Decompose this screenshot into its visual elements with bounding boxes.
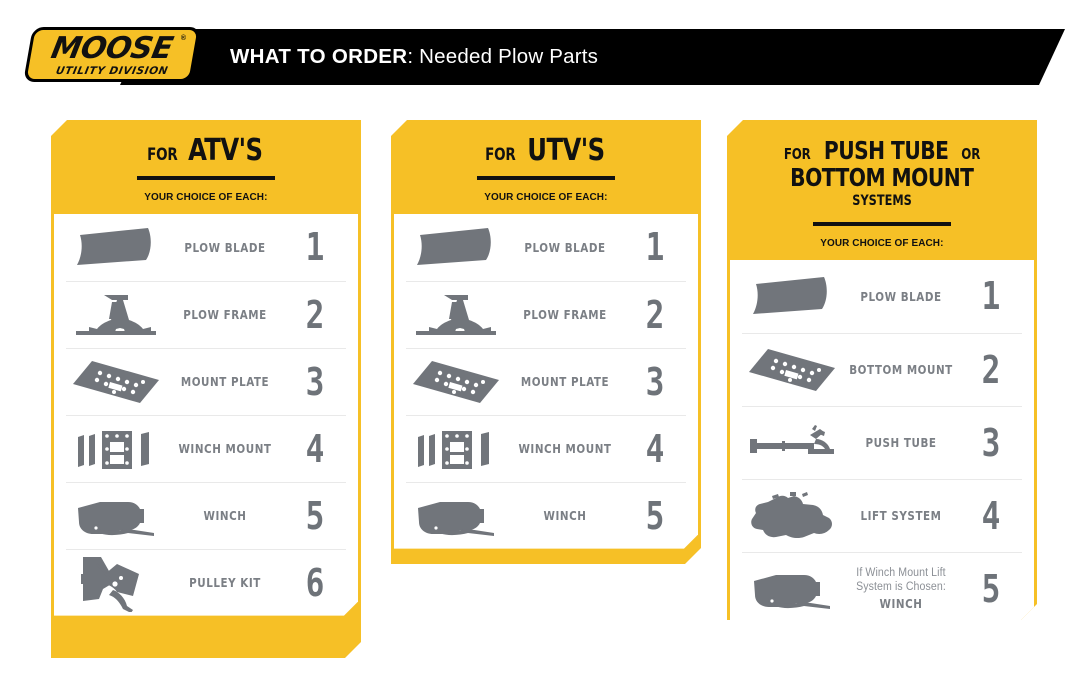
card-systems-title: SYSTEMS [852, 194, 911, 209]
table-row[interactable]: PLOW FRAME 2 [406, 281, 686, 348]
table-row[interactable]: WINCH MOUNT 4 [406, 415, 686, 482]
card-atvs: FOR ATV'S YOUR CHOICE OF EACH: PLOW BLAD… [51, 120, 361, 658]
row-label: PLOW BLADE [171, 240, 280, 255]
row-label: MOUNT PLATE [171, 374, 280, 389]
mount-plate-icon [66, 358, 166, 406]
card-utvs-divider [477, 176, 615, 180]
card-push-tube-header: FOR PUSH TUBE OR BOTTOM MOUNT SYSTEMS YO… [730, 123, 1034, 260]
table-row[interactable]: PLOW FRAME 2 [66, 281, 346, 348]
row-number: 1 [966, 277, 1017, 315]
row-number: 5 [630, 497, 681, 535]
row-label: PLOW FRAME [171, 307, 280, 322]
row-label: PUSH TUBE [847, 435, 956, 450]
row-label: WINCH [847, 596, 956, 611]
cards-container: FOR ATV'S YOUR CHOICE OF EACH: PLOW BLAD… [0, 0, 1080, 691]
row-number: 3 [966, 424, 1017, 462]
card-utvs-pre: FOR [486, 147, 516, 164]
row-number: 2 [630, 296, 681, 334]
row-label-note: If Winch Mount Lift System is Chosen: [847, 566, 956, 594]
row-label: WINCH MOUNT [511, 441, 620, 456]
card-utvs: FOR UTV'S YOUR CHOICE OF EACH: PLOW BLAD… [391, 120, 701, 564]
plow-blade-icon [406, 226, 506, 268]
push-tube-icon [742, 423, 842, 463]
row-label-group: If Winch Mount Lift System is Chosen: WI… [847, 566, 956, 611]
plow-frame-icon [66, 292, 166, 338]
plow-blade-icon [66, 226, 166, 268]
row-label: PLOW BLADE [511, 240, 620, 255]
row-number: 3 [290, 363, 341, 401]
table-row[interactable]: PUSH TUBE 3 [742, 406, 1022, 479]
table-row[interactable]: LIFT SYSTEM 4 [742, 479, 1022, 552]
plow-blade-icon [742, 275, 842, 317]
pulley-kit-icon [66, 554, 166, 612]
table-row[interactable]: WINCH 5 [66, 482, 346, 549]
table-row[interactable]: PLOW BLADE 1 [742, 260, 1022, 333]
row-number: 6 [290, 564, 341, 602]
winch-mount-icon [406, 425, 506, 473]
row-label: MOUNT PLATE [511, 374, 620, 389]
row-label: LIFT SYSTEM [847, 508, 956, 523]
row-number: 2 [290, 296, 341, 334]
bottom-mount-icon [742, 346, 842, 394]
table-row[interactable]: BOTTOM MOUNT 2 [742, 333, 1022, 406]
row-label: WINCH MOUNT [171, 441, 280, 456]
row-label: PULLEY KIT [171, 575, 280, 590]
card-atvs-subtitle: YOUR CHOICE OF EACH: [144, 191, 267, 203]
winch-icon [406, 494, 506, 538]
card-push-tube-subtitle: YOUR CHOICE OF EACH: [820, 237, 943, 249]
row-number: 1 [630, 228, 681, 266]
table-row[interactable]: MOUNT PLATE 3 [66, 348, 346, 415]
row-label: PLOW BLADE [847, 289, 956, 304]
card-bottom-mount-title: BOTTOM MOUNT [790, 165, 973, 191]
card-atvs-title: ATV'S [188, 136, 262, 167]
table-row[interactable]: WINCH MOUNT 4 [66, 415, 346, 482]
row-number: 4 [290, 430, 341, 468]
card-push-tube-body: PLOW BLADE 1 BOTTOM MOUNT 2 PUSH TUBE 3 [730, 260, 1034, 625]
row-label: WINCH [171, 508, 280, 523]
row-number: 5 [966, 570, 1017, 608]
table-row[interactable]: MOUNT PLATE 3 [406, 348, 686, 415]
row-number: 4 [630, 430, 681, 468]
plow-frame-icon [406, 292, 506, 338]
infographic-page: WHAT TO ORDER: Needed Plow Parts MOOSE U… [0, 0, 1080, 691]
card-push-tube-bottom-mount: FOR PUSH TUBE OR BOTTOM MOUNT SYSTEMS YO… [727, 120, 1037, 620]
row-number: 2 [966, 351, 1017, 389]
table-row[interactable]: WINCH 5 [406, 482, 686, 549]
table-row[interactable]: PLOW BLADE 1 [406, 214, 686, 281]
card-atvs-pre: FOR [147, 147, 177, 164]
row-number: 1 [290, 228, 341, 266]
card-utvs-title: UTV'S [527, 136, 604, 167]
card-push-tube-post: OR [961, 147, 980, 162]
winch-icon [66, 494, 166, 538]
row-label: PLOW FRAME [511, 307, 620, 322]
card-atvs-body: PLOW BLADE 1 PLOW FRAME 2 MOUNT PLATE 3 [54, 214, 358, 616]
table-row[interactable]: PLOW BLADE 1 [66, 214, 346, 281]
row-number: 3 [630, 363, 681, 401]
winch-icon [742, 567, 842, 611]
card-atvs-header: FOR ATV'S YOUR CHOICE OF EACH: [54, 123, 358, 214]
row-label: WINCH [511, 508, 620, 523]
card-utvs-subtitle: YOUR CHOICE OF EACH: [484, 191, 607, 203]
card-push-tube-title: PUSH TUBE [824, 138, 948, 164]
card-push-tube-pre: FOR [784, 147, 811, 162]
table-row[interactable]: PULLEY KIT 6 [66, 549, 346, 616]
card-utvs-body: PLOW BLADE 1 PLOW FRAME 2 MOUNT PLATE 3 [394, 214, 698, 549]
winch-mount-icon [66, 425, 166, 473]
mount-plate-icon [406, 358, 506, 406]
card-atvs-divider [137, 176, 275, 180]
table-row[interactable]: If Winch Mount Lift System is Chosen: WI… [742, 552, 1022, 625]
row-number: 5 [290, 497, 341, 535]
card-push-tube-divider [813, 222, 951, 226]
lift-system-icon [742, 490, 842, 542]
card-utvs-header: FOR UTV'S YOUR CHOICE OF EACH: [394, 123, 698, 214]
row-label: BOTTOM MOUNT [847, 362, 956, 377]
row-number: 4 [966, 497, 1017, 535]
